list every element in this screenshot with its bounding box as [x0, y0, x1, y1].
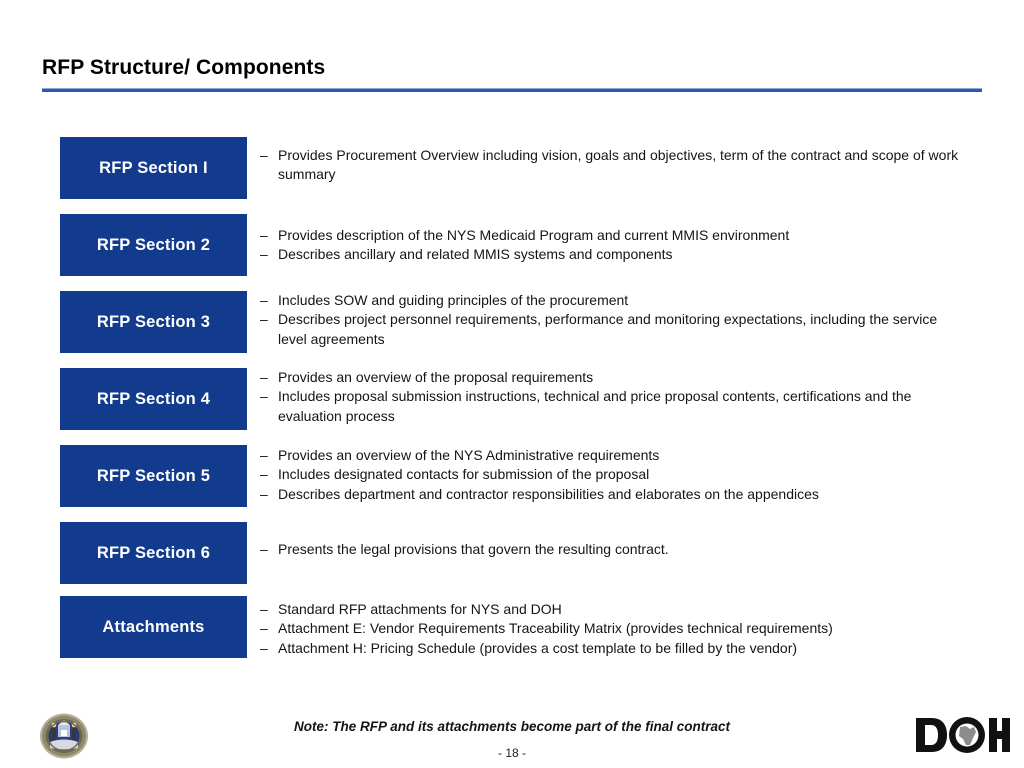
bullet-dash-icon: –	[260, 540, 268, 559]
bullet-text: Describes ancillary and related MMIS sys…	[278, 246, 673, 262]
bullet-dash-icon: –	[260, 619, 268, 638]
bullet-text: Standard RFP attachments for NYS and DOH	[278, 601, 562, 617]
bullet-dash-icon: –	[260, 465, 268, 484]
footer-note: Note: The RFP and its attachments become…	[0, 719, 1024, 734]
bullet-text: Provides an overview of the NYS Administ…	[278, 447, 659, 463]
bullet-item: –Provides an overview of the NYS Adminis…	[260, 446, 960, 465]
bullet-dash-icon: –	[260, 387, 268, 406]
bullet-text: Includes proposal submission instruction…	[278, 388, 911, 423]
bullet-dash-icon: –	[260, 226, 268, 245]
section-description-list: –Includes SOW and guiding principles of …	[260, 291, 960, 349]
section-description-list: –Provides Procurement Overview including…	[260, 146, 960, 185]
bullet-item: –Attachment H: Pricing Schedule (provide…	[260, 639, 960, 658]
rfp-structure-list: RFP Section I–Provides Procurement Overv…	[0, 0, 1024, 768]
section-description-list: –Standard RFP attachments for NYS and DO…	[260, 600, 960, 658]
bullet-item: –Provides an overview of the proposal re…	[260, 368, 960, 387]
bullet-item: –Attachment E: Vendor Requirements Trace…	[260, 619, 960, 638]
doh-logo-icon	[914, 714, 1010, 756]
bullet-item: –Describes project personnel requirement…	[260, 310, 960, 349]
bullet-text: Attachment H: Pricing Schedule (provides…	[278, 640, 797, 656]
bullet-text: Includes designated contacts for submiss…	[278, 466, 649, 482]
bullet-item: –Includes proposal submission instructio…	[260, 387, 960, 426]
bullet-item: –Provides Procurement Overview including…	[260, 146, 960, 185]
bullet-item: –Provides description of the NYS Medicai…	[260, 226, 960, 245]
bullet-item: –Describes department and contractor res…	[260, 485, 960, 504]
bullet-item: –Standard RFP attachments for NYS and DO…	[260, 600, 960, 619]
bullet-item: –Includes SOW and guiding principles of …	[260, 291, 960, 310]
bullet-text: Provides description of the NYS Medicaid…	[278, 227, 789, 243]
section-description-list: –Presents the legal provisions that gove…	[260, 540, 960, 559]
section-description-list: –Provides an overview of the NYS Adminis…	[260, 446, 960, 504]
bullet-text: Includes SOW and guiding principles of t…	[278, 292, 628, 308]
bullet-dash-icon: –	[260, 146, 268, 165]
section-label-box[interactable]: RFP Section 5	[60, 445, 247, 507]
bullet-text: Provides Procurement Overview including …	[278, 147, 958, 182]
section-label-box[interactable]: RFP Section 4	[60, 368, 247, 430]
bullet-text: Describes department and contractor resp…	[278, 486, 819, 502]
bullet-dash-icon: –	[260, 245, 268, 264]
bullet-dash-icon: –	[260, 485, 268, 504]
bullet-dash-icon: –	[260, 368, 268, 387]
section-label-box[interactable]: RFP Section 3	[60, 291, 247, 353]
section-label-box[interactable]: Attachments	[60, 596, 247, 658]
bullet-dash-icon: –	[260, 310, 268, 329]
bullet-dash-icon: –	[260, 446, 268, 465]
nys-state-seal-icon	[38, 712, 90, 760]
section-description-list: –Provides an overview of the proposal re…	[260, 368, 960, 426]
section-label-box[interactable]: RFP Section 2	[60, 214, 247, 276]
section-label-box[interactable]: RFP Section 6	[60, 522, 247, 584]
section-description-list: –Provides description of the NYS Medicai…	[260, 226, 960, 265]
bullet-text: Describes project personnel requirements…	[278, 311, 937, 346]
bullet-item: –Includes designated contacts for submis…	[260, 465, 960, 484]
bullet-text: Presents the legal provisions that gover…	[278, 541, 669, 557]
bullet-dash-icon: –	[260, 639, 268, 658]
page-number: - 18 -	[0, 746, 1024, 760]
bullet-item: –Presents the legal provisions that gove…	[260, 540, 960, 559]
bullet-item: –Describes ancillary and related MMIS sy…	[260, 245, 960, 264]
bullet-dash-icon: –	[260, 291, 268, 310]
bullet-text: Provides an overview of the proposal req…	[278, 369, 593, 385]
section-label-box[interactable]: RFP Section I	[60, 137, 247, 199]
bullet-dash-icon: –	[260, 600, 268, 619]
bullet-text: Attachment E: Vendor Requirements Tracea…	[278, 620, 833, 636]
